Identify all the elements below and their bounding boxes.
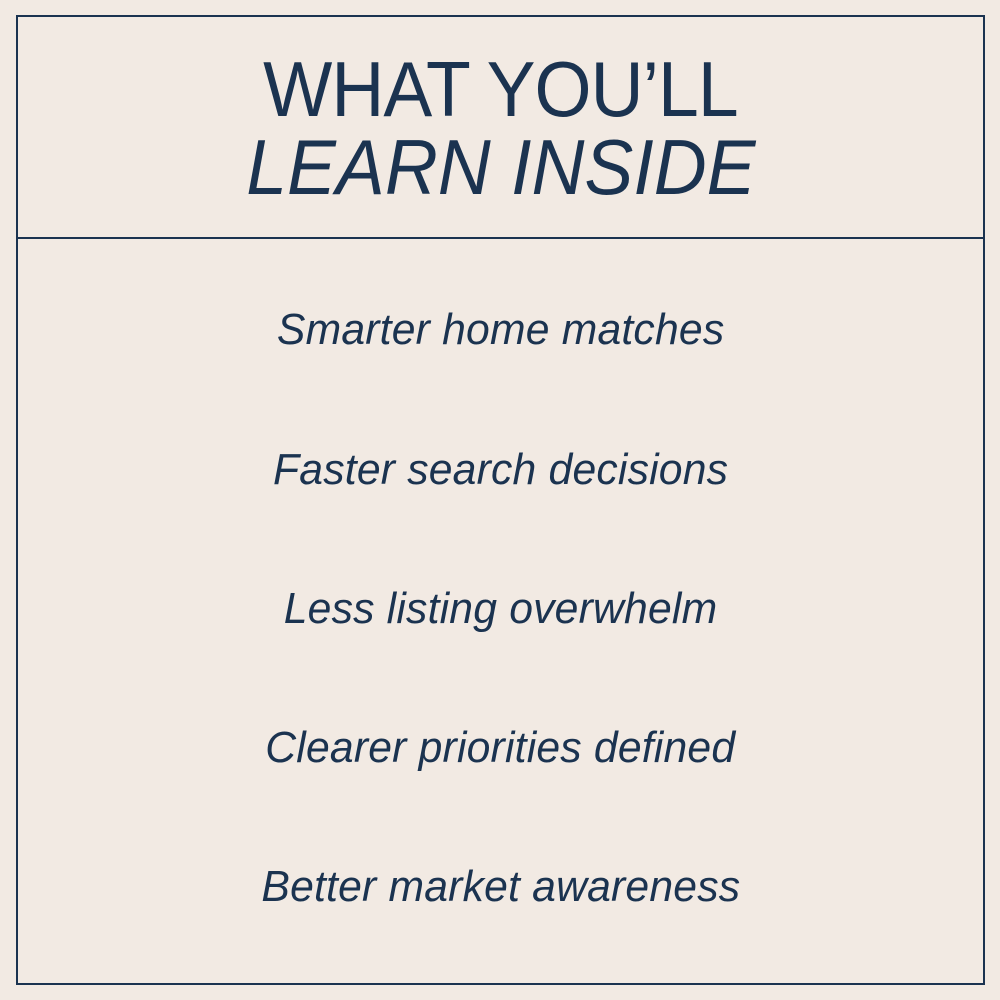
benefits-list: Smarter home matches Faster search decis… — [18, 239, 983, 983]
list-item: Smarter home matches — [277, 306, 724, 354]
card-header: WHAT YOU’LL LEARN INSIDE — [18, 17, 983, 239]
list-item: Better market awareness — [261, 863, 740, 911]
page-title-line-2: LEARN INSIDE — [246, 132, 755, 204]
bordered-card: WHAT YOU’LL LEARN INSIDE Smarter home ma… — [16, 15, 985, 985]
list-item: Faster search decisions — [273, 446, 728, 494]
page-title-line-1: WHAT YOU’LL — [263, 54, 738, 126]
list-item: Less listing overwhelm — [284, 585, 718, 633]
list-item: Clearer priorities defined — [265, 724, 735, 772]
slide-canvas: WHAT YOU’LL LEARN INSIDE Smarter home ma… — [0, 0, 1000, 1000]
